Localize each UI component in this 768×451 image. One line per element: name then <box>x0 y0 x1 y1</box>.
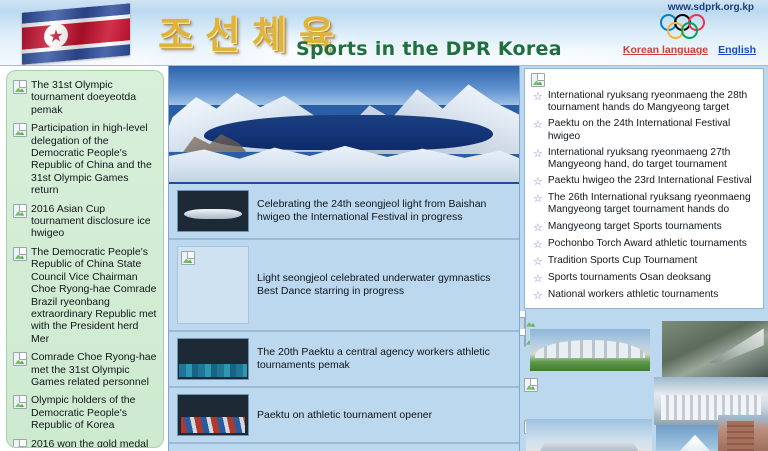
tournament-item-label: Mangyeong target Sports tournaments <box>548 221 722 233</box>
tournament-list: ☆International ryuksang ryeonmaeng the 2… <box>527 88 761 304</box>
broken-image-icon <box>13 80 27 94</box>
left-sidebar-column: The 31st Olympic tournament doeyeotda pe… <box>0 66 168 451</box>
tournament-list-panel: ☆International ryuksang ryeonmaeng the 2… <box>524 68 764 309</box>
tournament-list-item[interactable]: ☆Pochonbo Torch Award athletic tournamen… <box>527 236 761 253</box>
broken-image-icon <box>13 123 27 137</box>
site-header: ★ 조선체육 Sports in the DPR Korea www.sdprk… <box>0 0 768 66</box>
tournament-item-label: The 26th International ryuksang ryeonmae… <box>548 192 757 216</box>
article-title: Paektu on athletic tournament opener <box>257 409 432 422</box>
star-icon: ☆ <box>533 239 543 251</box>
broken-image-icon <box>13 439 27 448</box>
star-icon: ☆ <box>533 119 543 131</box>
broken-image-icon <box>13 247 27 261</box>
facility-photo-gallery <box>520 315 768 451</box>
news-list-item[interactable]: The 31st Olympic tournament doeyeotda pe… <box>11 77 159 120</box>
news-list-item[interactable]: Comrade Choe Ryong-hae met the 31st Olym… <box>11 349 159 392</box>
tournament-list-header-icons <box>527 72 761 88</box>
tournament-list-item[interactable]: ☆National workers athletic tournaments <box>527 287 761 304</box>
tournament-list-item[interactable]: ☆Mangyeong target Sports tournaments <box>527 219 761 236</box>
tournament-list-item[interactable]: ☆The 26th International ryuksang ryeonma… <box>527 190 761 218</box>
article-list: Celebrating the 24th seongjeol light fro… <box>169 184 519 444</box>
tournament-item-label: International ryuksang ryeonmaeng 27th M… <box>548 147 757 171</box>
main-content-column: Celebrating the 24th seongjeol light fro… <box>168 66 520 451</box>
news-item-label: Participation in high-level delegation o… <box>31 122 157 196</box>
tournament-list-item[interactable]: ☆Tradition Sports Cup Tournament <box>527 253 761 270</box>
page-body: The 31st Olympic tournament doeyeotda pe… <box>0 66 768 451</box>
news-list-item[interactable]: The Democratic People's Republic of Chin… <box>11 244 159 349</box>
news-item-label: 2016 won the gold medal in the Internati… <box>31 438 157 448</box>
tournament-item-label: Tradition Sports Cup Tournament <box>548 255 698 267</box>
gallery-broken-icons-top <box>524 311 526 347</box>
news-list-item[interactable]: Participation in high-level delegation o… <box>11 120 159 200</box>
language-link-korean[interactable]: Korean language <box>623 44 708 56</box>
star-icon: ☆ <box>533 193 543 205</box>
tournament-list-item[interactable]: ☆Sports tournaments Osan deoksang <box>527 270 761 287</box>
broken-image-icon <box>13 352 27 366</box>
language-switcher: Korean languageEnglish <box>623 44 756 56</box>
tournament-item-label: Paektu hwigeo the 23rd International Fes… <box>548 175 752 187</box>
article-title: Light seongjeol celebrated underwater gy… <box>257 272 511 298</box>
site-url: www.sdprk.org.kp <box>668 2 754 13</box>
tournament-list-item[interactable]: ☆International ryuksang ryeonmaeng 27th … <box>527 145 761 173</box>
tournament-item-label: Pochonbo Torch Award athletic tournament… <box>548 238 747 250</box>
site-subtitle: Sports in the DPR Korea <box>296 38 562 60</box>
article-thumbnail[interactable] <box>177 394 249 436</box>
tournament-list-item[interactable]: ☆Paektu hwigeo the 23rd International Fe… <box>527 173 761 190</box>
sports-theatre-photo[interactable] <box>526 419 652 451</box>
language-link-english[interactable]: English <box>718 44 756 56</box>
article-row[interactable]: Paektu on athletic tournament opener <box>169 388 519 444</box>
star-icon: ☆ <box>533 256 543 268</box>
article-title: The 20th Paektu a central agency workers… <box>257 346 511 372</box>
article-title: Celebrating the 24th seongjeol light fro… <box>257 198 511 224</box>
broken-image-icon <box>524 328 526 347</box>
right-sidebar-column: ☆International ryuksang ryeonmaeng the 2… <box>520 66 768 451</box>
tournament-item-label: International ryuksang ryeonmaeng the 28… <box>548 90 757 114</box>
star-icon: ☆ <box>533 176 543 188</box>
star-icon: ☆ <box>533 91 543 103</box>
article-row[interactable]: Light seongjeol celebrated underwater gy… <box>169 240 519 332</box>
news-item-label: The 31st Olympic tournament doeyeotda pe… <box>31 79 157 116</box>
broken-image-icon <box>13 395 27 409</box>
tournament-item-label: Paektu on the 24th International Festiva… <box>548 118 757 142</box>
dprk-flag-icon: ★ <box>22 3 130 64</box>
olympic-rings-icon <box>660 14 736 40</box>
news-list-panel: The 31st Olympic tournament doeyeotda pe… <box>6 70 164 448</box>
tournament-item-label: Sports tournaments Osan deoksang <box>548 272 711 284</box>
star-icon: ☆ <box>533 148 543 160</box>
tournament-item-label: National workers athletic tournaments <box>548 289 718 301</box>
broken-image-icon <box>524 378 538 392</box>
star-icon: ☆ <box>533 273 543 285</box>
news-list-item[interactable]: Olympic holders of the Democratic People… <box>11 392 159 435</box>
broken-image-icon <box>531 73 545 87</box>
article-thumbnail[interactable] <box>177 338 249 380</box>
rungrado-stadium-photo[interactable] <box>530 329 650 371</box>
news-list-item[interactable]: 2016 won the gold medal in the Internati… <box>11 436 159 448</box>
broken-image-icon <box>181 251 195 265</box>
article-row[interactable]: Celebrating the 24th seongjeol light fro… <box>169 184 519 240</box>
news-item-label: 2016 Asian Cup tournament disclosure ice… <box>31 203 157 240</box>
news-item-label: Comrade Choe Ryong-hae met the 31st Olym… <box>31 351 157 388</box>
broken-image-icon <box>13 204 27 218</box>
broken-image-icon <box>524 310 526 329</box>
article-row[interactable]: The 20th Paektu a central agency workers… <box>169 332 519 388</box>
tournament-list-item[interactable]: ☆Paektu on the 24th International Festiv… <box>527 116 761 144</box>
article-thumbnail-missing[interactable] <box>177 246 249 324</box>
star-icon: ☆ <box>533 222 543 234</box>
tournament-list-item[interactable]: ☆International ryuksang ryeonmaeng the 2… <box>527 88 761 116</box>
star-icon: ☆ <box>533 290 543 302</box>
hotel-tower-photo[interactable] <box>718 415 768 451</box>
ice-rink-building-photo[interactable] <box>662 321 768 377</box>
article-thumbnail[interactable] <box>177 190 249 232</box>
news-item-label: Olympic holders of the Democratic People… <box>31 394 157 431</box>
paektu-mountain-lake-banner[interactable] <box>169 66 520 184</box>
news-item-label: The Democratic People's Republic of Chin… <box>31 246 157 345</box>
news-list-item[interactable]: 2016 Asian Cup tournament disclosure ice… <box>11 201 159 244</box>
